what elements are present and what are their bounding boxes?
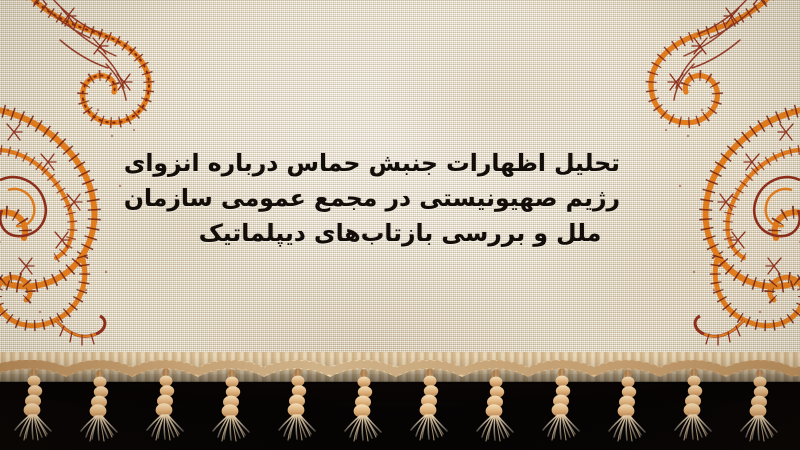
banner-canvas: تحلیل اظهارات جنبش حماس درباره انزوای رژ… bbox=[0, 0, 800, 450]
banner-headline: تحلیل اظهارات جنبش حماس درباره انزوای رژ… bbox=[180, 146, 620, 251]
headline-line-3: ملل و بررسی بازتاب‌های دیپلماتیک bbox=[180, 216, 620, 251]
headline-line-2: رژیم صهیونیستی در مجمع عمومی سازمان bbox=[180, 181, 620, 216]
cloth-hem-selvage bbox=[0, 352, 800, 382]
headline-line-1: تحلیل اظهارات جنبش حماس درباره انزوای bbox=[180, 146, 620, 181]
